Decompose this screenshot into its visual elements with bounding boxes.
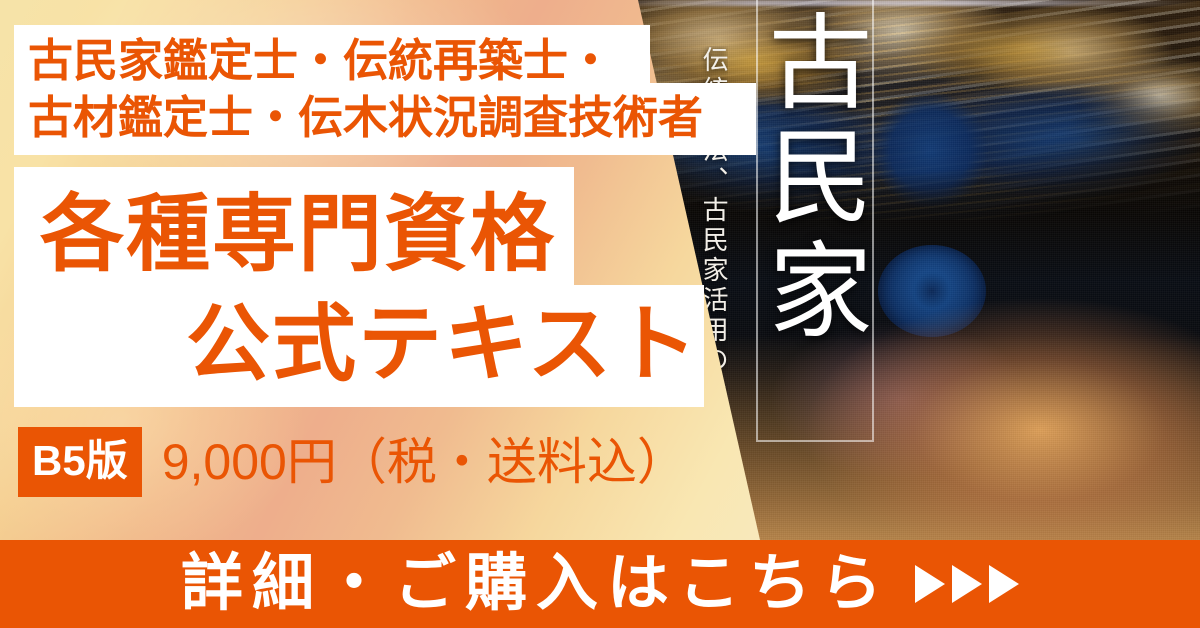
- headline-line-1: 古民家鑑定士・伝統再築士・: [14, 25, 756, 89]
- price-row: B5版 9,000円（税・送料込）: [18, 428, 687, 496]
- main-title-line-1: 各種専門資格: [14, 167, 704, 289]
- main-title-line-2: 公式テキスト: [14, 289, 704, 399]
- cta-arrows: [915, 565, 1019, 603]
- promo-banner: 古民家 伝統構法、古民家活用のための調査と再生の 古民家鑑定士・伝統再築士・ 古…: [0, 0, 1200, 628]
- size-badge: B5版: [18, 427, 142, 497]
- price-amount: 9,000円（税・送料込）: [162, 437, 687, 487]
- headline-text: 古民家鑑定士・伝統再築士・ 古材鑑定士・伝木状況調査技術者: [14, 25, 756, 146]
- book-title-vertical: 古民家: [758, 8, 872, 350]
- cta-label: 詳細・ご購入はこちら: [181, 553, 891, 615]
- play-arrow-icon: [989, 565, 1019, 603]
- main-title-text: 各種専門資格 公式テキスト: [14, 167, 704, 399]
- play-arrow-icon: [952, 565, 982, 603]
- promo-content-area: 古民家鑑定士・伝統再築士・ 古材鑑定士・伝木状況調査技術者 各種専門資格 公式テ…: [0, 0, 760, 540]
- headline-line-2: 古材鑑定士・伝木状況調査技術者: [14, 89, 756, 146]
- cta-bar[interactable]: 詳細・ご購入はこちら: [0, 540, 1200, 628]
- play-arrow-icon: [915, 565, 945, 603]
